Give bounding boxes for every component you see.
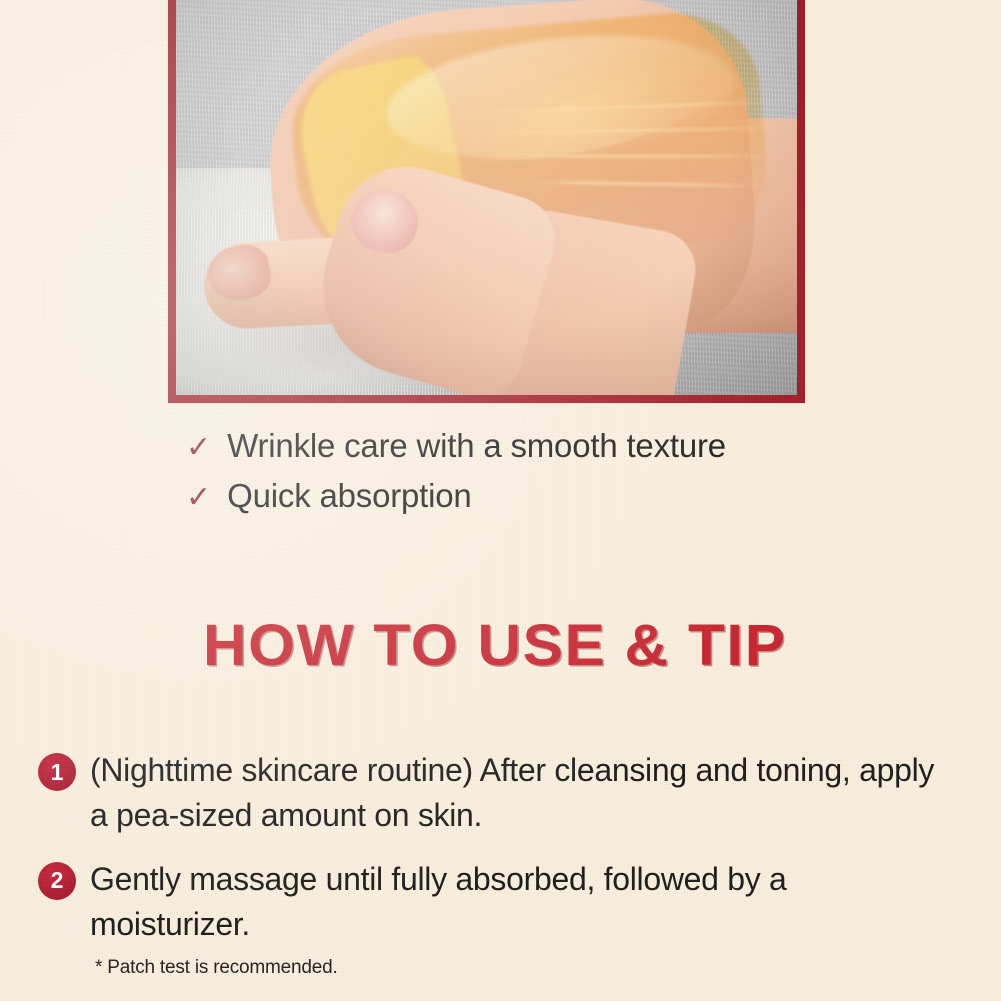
- feature-label: Wrinkle care with a smooth texture: [227, 424, 726, 468]
- feature-list: ✓ Wrinkle care with a smooth texture ✓ Q…: [186, 424, 946, 523]
- step-text: Gently massage until fully absorbed, fol…: [90, 857, 945, 948]
- product-photo-frame: [168, 0, 805, 403]
- list-item: ✓ Wrinkle care with a smooth texture: [186, 424, 946, 468]
- check-icon: ✓: [186, 433, 211, 463]
- photo-vignette: [176, 0, 797, 395]
- step-text: (Nighttime skincare routine) After clean…: [90, 748, 945, 839]
- check-icon: ✓: [186, 483, 211, 513]
- list-item: 1 (Nighttime skincare routine) After cle…: [38, 748, 968, 839]
- list-item: 2 Gently massage until fully absorbed, f…: [38, 857, 968, 948]
- section-heading: HOW TO USE & TIP: [203, 612, 787, 679]
- feature-label: Quick absorption: [227, 474, 471, 518]
- list-item: ✓ Quick absorption: [186, 474, 946, 518]
- step-number-badge: 2: [38, 862, 76, 900]
- step-number-badge: 1: [38, 753, 76, 791]
- how-to-steps: 1 (Nighttime skincare routine) After cle…: [38, 748, 968, 966]
- hand-gel-application-photo: [176, 0, 797, 395]
- footnote: * Patch test is recommended.: [95, 957, 338, 979]
